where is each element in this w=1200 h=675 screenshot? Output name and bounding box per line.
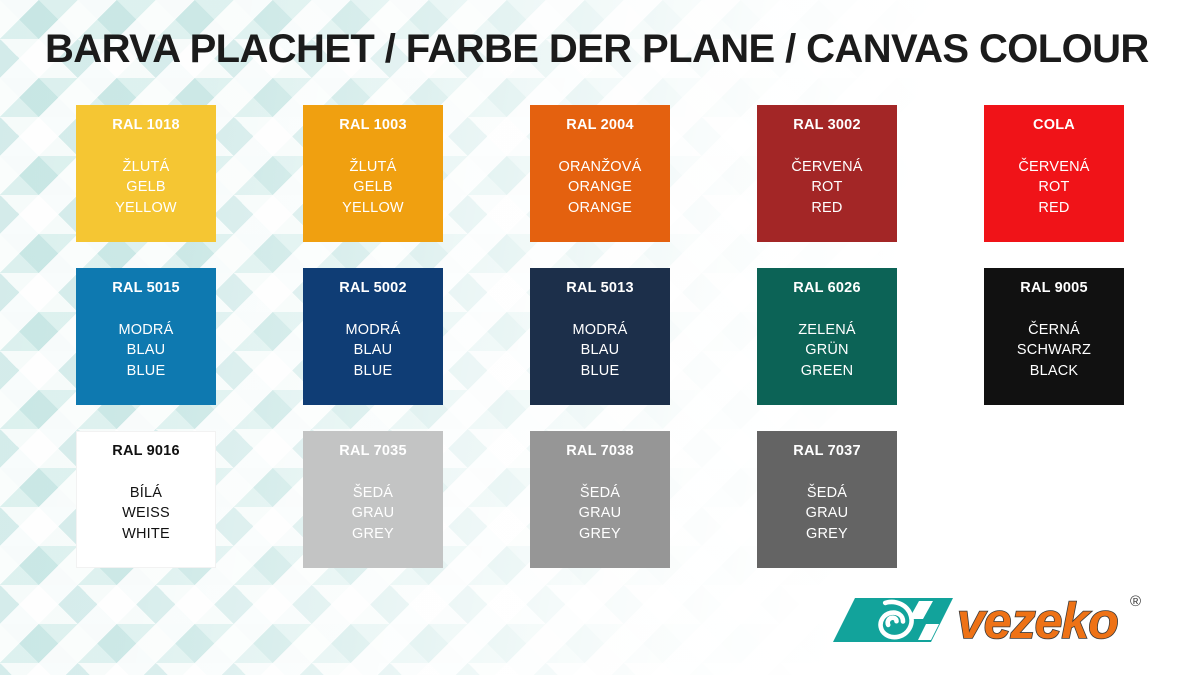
swatch-name: ZELENÁ <box>798 321 856 340</box>
colour-swatch: RAL 7035ŠEDÁGRAUGREY <box>303 431 443 568</box>
colour-swatch: RAL 1018ŽLUTÁGELBYELLOW <box>76 105 216 242</box>
swatch-code: RAL 5002 <box>339 281 406 296</box>
swatch-code: RAL 2004 <box>566 118 633 133</box>
swatch-name: BLAU <box>354 341 393 360</box>
swatch-code: RAL 9016 <box>112 444 179 459</box>
swatch-name: GRAU <box>806 504 849 523</box>
colour-swatch: RAL 5015MODRÁBLAUBLUE <box>76 268 216 405</box>
swatch-name: MODRÁ <box>573 321 628 340</box>
swatch-name-list: BÍLÁWEISSWHITE <box>122 484 170 545</box>
swatch-code: RAL 1018 <box>112 118 179 133</box>
swatch-name: BLUE <box>127 362 166 381</box>
swatch-name-list: MODRÁBLAUBLUE <box>119 321 174 382</box>
swatch-name: YELLOW <box>342 199 404 218</box>
swatch-name-list: ZELENÁGRÜNGREEN <box>798 321 856 382</box>
swatch-name-list: ŠEDÁGRAUGREY <box>579 484 622 545</box>
colour-swatch: RAL 9005ČERNÁSCHWARZBLACK <box>984 268 1124 405</box>
swatch-name: ŠEDÁ <box>353 484 393 503</box>
colour-swatch: COLAČERVENÁROTRED <box>984 105 1124 242</box>
swatch-name: BLAU <box>581 341 620 360</box>
swatch-name: BLUE <box>581 362 620 381</box>
swatch-name-list: ŠEDÁGRAUGREY <box>352 484 395 545</box>
swatch-name: MODRÁ <box>119 321 174 340</box>
colour-swatch: RAL 7037ŠEDÁGRAUGREY <box>757 431 897 568</box>
swatch-name: BLACK <box>1030 362 1079 381</box>
slide-page: BARVA PLACHET / FARBE DER PLANE / CANVAS… <box>0 0 1200 675</box>
swatch-name: ORANŽOVÁ <box>559 158 642 177</box>
swatch-name: ŠEDÁ <box>807 484 847 503</box>
swatch-name: BÍLÁ <box>130 484 162 503</box>
swatch-name: ROT <box>811 178 842 197</box>
swatch-name: ČERNÁ <box>1028 321 1080 340</box>
swatch-name: YELLOW <box>115 199 177 218</box>
swatch-name-list: ŠEDÁGRAUGREY <box>806 484 849 545</box>
swatch-name: GREEN <box>801 362 854 381</box>
logo-registered-mark: ® <box>1130 593 1141 610</box>
swatch-name: RED <box>811 199 842 218</box>
swatch-code: RAL 7038 <box>566 444 633 459</box>
swatch-name: ČERVENÁ <box>791 158 862 177</box>
colour-swatch: RAL 3002ČERVENÁROTRED <box>757 105 897 242</box>
swatch-name-list: ŽLUTÁGELBYELLOW <box>115 158 177 219</box>
page-title: BARVA PLACHET / FARBE DER PLANE / CANVAS… <box>45 27 1149 72</box>
swatch-name: ORANGE <box>568 178 632 197</box>
swatch-name: ORANGE <box>568 199 632 218</box>
swatch-name: BLAU <box>127 341 166 360</box>
swatch-name: GREY <box>352 525 394 544</box>
logo-mark-icon <box>833 598 953 642</box>
swatch-name: ŽLUTÁ <box>350 158 397 177</box>
swatch-name: WEISS <box>122 504 170 523</box>
colour-swatch-grid: RAL 1018ŽLUTÁGELBYELLOWRAL 1003ŽLUTÁGELB… <box>76 105 1126 568</box>
colour-swatch: RAL 5002MODRÁBLAUBLUE <box>303 268 443 405</box>
swatch-name: RED <box>1038 199 1069 218</box>
swatch-code: RAL 7035 <box>339 444 406 459</box>
colour-swatch: RAL 2004ORANŽOVÁORANGEORANGE <box>530 105 670 242</box>
swatch-name: GREY <box>806 525 848 544</box>
colour-swatch: RAL 7038ŠEDÁGRAUGREY <box>530 431 670 568</box>
colour-swatch: RAL 9016BÍLÁWEISSWHITE <box>76 431 216 568</box>
swatch-name: MODRÁ <box>346 321 401 340</box>
vezeko-logo: vezeko ® <box>833 588 1158 650</box>
swatch-code: RAL 6026 <box>793 281 860 296</box>
swatch-code: RAL 9005 <box>1020 281 1087 296</box>
swatch-name-list: ORANŽOVÁORANGEORANGE <box>559 158 642 219</box>
swatch-code: RAL 7037 <box>793 444 860 459</box>
swatch-name: GRÜN <box>805 341 849 360</box>
swatch-code: RAL 3002 <box>793 118 860 133</box>
swatch-name: GREY <box>579 525 621 544</box>
swatch-name: BLUE <box>354 362 393 381</box>
swatch-code: RAL 5015 <box>112 281 179 296</box>
swatch-code: RAL 5013 <box>566 281 633 296</box>
swatch-name: GELB <box>126 178 166 197</box>
swatch-name-list: MODRÁBLAUBLUE <box>573 321 628 382</box>
swatch-name-list: MODRÁBLAUBLUE <box>346 321 401 382</box>
swatch-name: GRAU <box>352 504 395 523</box>
swatch-name: GRAU <box>579 504 622 523</box>
swatch-name-list: ČERVENÁROTRED <box>1018 158 1089 219</box>
swatch-name: ŽLUTÁ <box>123 158 170 177</box>
swatch-code: RAL 1003 <box>339 118 406 133</box>
logo-wordmark: vezeko <box>957 593 1118 649</box>
swatch-name: SCHWARZ <box>1017 341 1091 360</box>
colour-swatch: RAL 5013MODRÁBLAUBLUE <box>530 268 670 405</box>
swatch-name-list: ČERVENÁROTRED <box>791 158 862 219</box>
colour-swatch: RAL 6026ZELENÁGRÜNGREEN <box>757 268 897 405</box>
swatch-name: ROT <box>1038 178 1069 197</box>
swatch-code: COLA <box>1033 118 1075 133</box>
colour-swatch: RAL 1003ŽLUTÁGELBYELLOW <box>303 105 443 242</box>
swatch-name-list: ČERNÁSCHWARZBLACK <box>1017 321 1091 382</box>
swatch-name: ŠEDÁ <box>580 484 620 503</box>
swatch-name: WHITE <box>122 525 170 544</box>
swatch-name: GELB <box>353 178 393 197</box>
swatch-name: ČERVENÁ <box>1018 158 1089 177</box>
swatch-name-list: ŽLUTÁGELBYELLOW <box>342 158 404 219</box>
